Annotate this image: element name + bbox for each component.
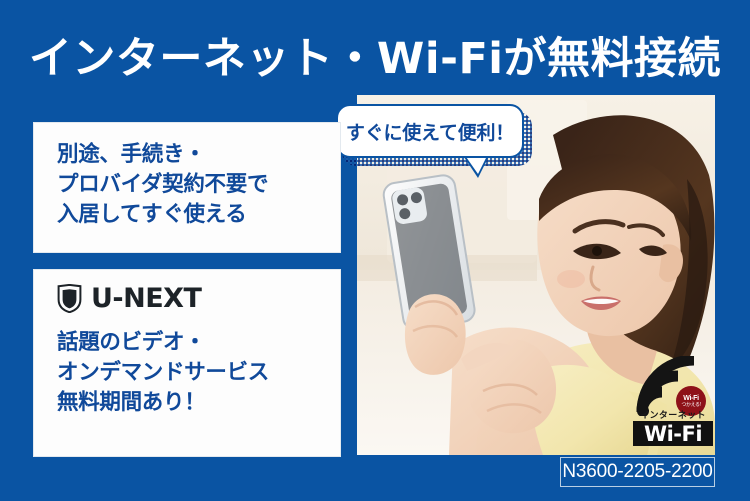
feature-card-connection-text: 別途、手続き・ プロバイダ契約不要で 入居してすぐ使える — [57, 140, 268, 230]
wifi-badge-word: Wi-Fi — [633, 421, 713, 446]
wifi-badge-kana: インターネット — [631, 408, 715, 421]
speech-bubble: すぐに使えて便利！ — [336, 104, 532, 166]
page-title: インターネット・Wi-Fiが無料接続 — [0, 34, 750, 84]
shield-icon — [57, 284, 82, 313]
feature-card-unext-text: 話題のビデオ・ オンデマンドサービス 無料期間あり！ — [57, 328, 269, 418]
speech-bubble-text: すぐに使えて便利！ — [336, 104, 524, 158]
feature-card-connection: 別途、手続き・ プロバイダ契約不要で 入居してすぐ使える — [33, 122, 341, 253]
advertisement-poster: インターネット・Wi-Fiが無料接続 — [0, 0, 750, 501]
feature-card-unext: U-NEXT 話題のビデオ・ オンデマンドサービス 無料期間あり！ — [33, 269, 341, 457]
wifi-seal-line2: つかえる! — [681, 403, 700, 408]
unext-logo-text: U-NEXT — [91, 285, 201, 312]
wifi-badge: Wi-Fi つかえる! インターネット Wi-Fi — [628, 356, 718, 448]
unext-logo: U-NEXT — [57, 284, 201, 313]
wifi-seal-line1: Wi-Fi — [683, 395, 699, 402]
property-code: N3600-2205-2200 — [560, 457, 715, 487]
